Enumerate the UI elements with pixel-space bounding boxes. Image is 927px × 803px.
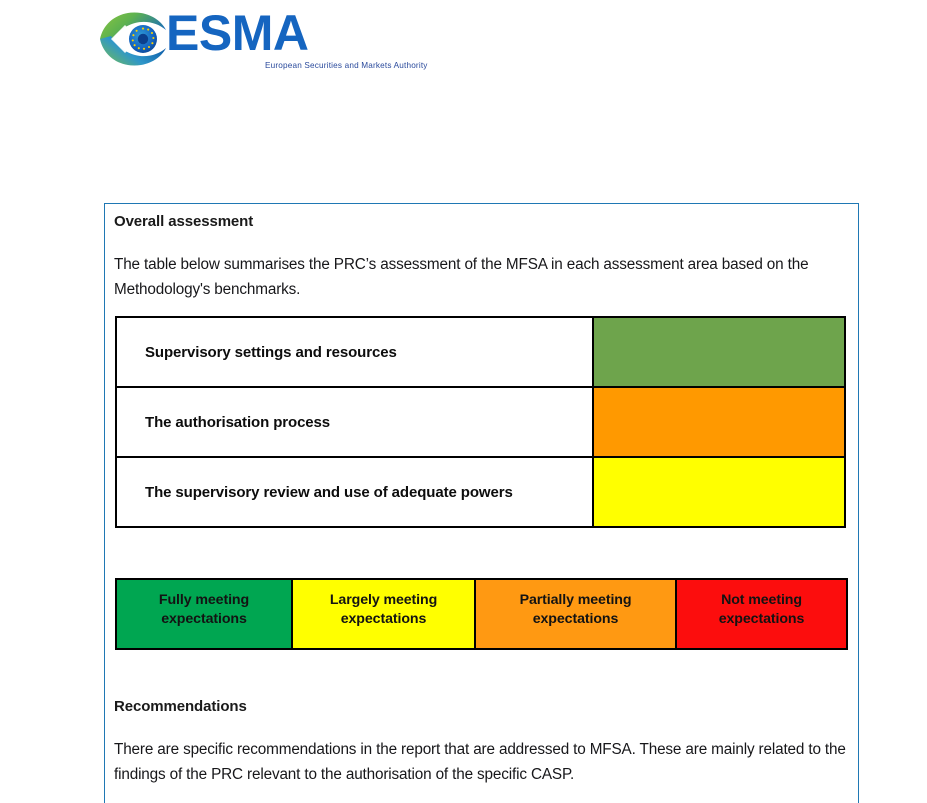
table-row: The authorisation process	[116, 387, 845, 457]
table-row: Supervisory settings and resources	[116, 317, 845, 387]
assessment-rating-swatch	[593, 457, 845, 527]
overall-assessment-paragraph: The table below summarises the PRC’s ass…	[114, 252, 854, 302]
esma-eye-logo-icon	[98, 9, 168, 69]
assessment-area-label: Supervisory settings and resources	[116, 317, 593, 387]
rating-legend: Fully meeting expectations Largely meeti…	[115, 578, 848, 650]
esma-wordmark: ESMA	[166, 6, 356, 62]
esma-logo-tagline: European Securities and Markets Authorit…	[265, 61, 428, 70]
assessment-area-label: The authorisation process	[116, 387, 593, 457]
legend-row: Fully meeting expectations Largely meeti…	[116, 579, 847, 649]
overall-assessment-heading: Overall assessment	[114, 213, 253, 230]
table-row: The supervisory review and use of adequa…	[116, 457, 845, 527]
recommendations-heading: Recommendations	[114, 698, 247, 715]
assessment-table: Supervisory settings and resources The a…	[115, 316, 846, 528]
svg-text:ESMA: ESMA	[166, 6, 308, 61]
overall-assessment-panel: Overall assessment The table below summa…	[104, 203, 859, 803]
assessment-rating-swatch	[593, 317, 845, 387]
recommendations-paragraph: There are specific recommendations in th…	[114, 737, 854, 787]
legend-item-not-meeting: Not meeting expectations	[676, 579, 847, 649]
assessment-area-label: The supervisory review and use of adequa…	[116, 457, 593, 527]
legend-item-partially-meeting: Partially meeting expectations	[475, 579, 676, 649]
legend-item-largely-meeting: Largely meeting expectations	[292, 579, 475, 649]
legend-item-fully-meeting: Fully meeting expectations	[116, 579, 292, 649]
esma-logo-header: ESMA European Securities and Markets Aut…	[98, 4, 358, 80]
assessment-rating-swatch	[593, 387, 845, 457]
